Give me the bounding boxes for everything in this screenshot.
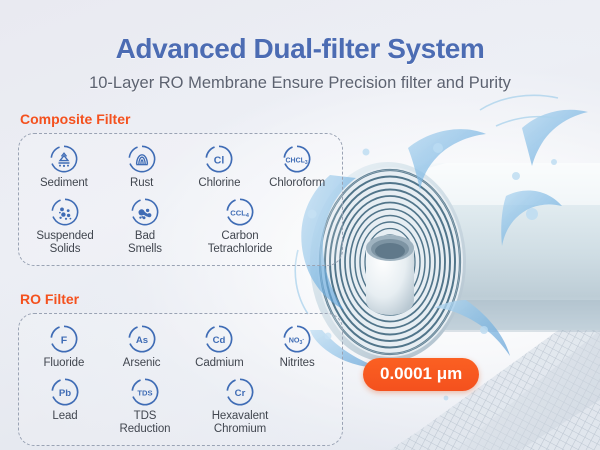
chloroform-icon: CHCL3 [282,144,312,174]
item-nitrites[interactable]: NO3- Nitrites [258,324,336,370]
svg-text:F: F [61,334,68,346]
svg-text:NO3-: NO3- [289,335,305,346]
item-label: Chloroform [269,177,325,190]
svg-text:CCL4: CCL4 [230,209,249,220]
svg-text:TDS: TDS [137,389,152,398]
micron-rating-badge: 0.0001 μm [363,358,479,391]
composite-filter-box: Sediment Rust [18,133,343,266]
item-label: TDS Reduction [120,410,171,436]
tds-reduction-icon: TDS [130,377,160,407]
section-ro-filter: RO Filter F Fluoride [18,291,343,446]
item-label: Carbon Tetrachloride [208,230,273,256]
chlorine-icon: Cl [204,144,234,174]
infographic-canvas: Advanced Dual-filter System 10-Layer RO … [0,0,600,450]
section-composite-filter: Composite Filter Sediment [18,111,343,266]
item-label: Hexavalent Chromium [212,410,269,436]
rust-icon [127,144,157,174]
item-label: Rust [130,177,153,190]
item-label: Suspended Solids [36,230,93,256]
ro-row-1: F Fluoride As Arsenic [25,324,336,370]
item-suspended-solids[interactable]: Suspended Solids [25,197,105,256]
item-rust[interactable]: Rust [103,144,181,190]
item-label: Fluoride [44,357,85,370]
item-fluoride[interactable]: F Fluoride [25,324,103,370]
fluoride-icon: F [49,324,79,354]
item-hexavalent-chromium[interactable]: Cr Hexavalent Chromium [185,377,295,436]
item-cadmium[interactable]: Cd Cadmium [181,324,259,370]
lead-icon: Pb [50,377,80,407]
bad-smells-icon [130,197,160,227]
svg-text:As: As [135,335,147,346]
item-bad-smells[interactable]: Bad Smells [105,197,185,256]
suspended-solids-icon [50,197,80,227]
arsenic-icon: As [127,324,157,354]
item-label: Nitrites [280,357,315,370]
item-chlorine[interactable]: Cl Chlorine [181,144,259,190]
section-title-ro: RO Filter [20,291,343,308]
item-label: Lead [52,410,77,423]
hexavalent-chromium-icon: Cr [225,377,255,407]
item-sediment[interactable]: Sediment [25,144,103,190]
svg-text:CHCL3: CHCL3 [286,157,308,166]
item-tds-reduction[interactable]: TDS TDS Reduction [105,377,185,436]
item-arsenic[interactable]: As Arsenic [103,324,181,370]
item-label: Bad Smells [128,230,162,256]
svg-text:Cd: Cd [213,335,226,346]
nitrites-icon: NO3- [282,324,312,354]
svg-text:Cr: Cr [235,388,246,399]
item-label: Sediment [40,177,88,190]
header: Advanced Dual-filter System 10-Layer RO … [0,32,600,94]
item-lead[interactable]: Pb Lead [25,377,105,436]
carbon-tetrachloride-icon: CCL4 [225,197,255,227]
svg-text:Cl: Cl [214,154,225,166]
ro-filter-box: F Fluoride As Arsenic [18,313,343,446]
section-title-composite: Composite Filter [20,111,343,128]
item-label: Cadmium [195,357,244,370]
item-label: Arsenic [123,357,161,370]
cadmium-icon: Cd [204,324,234,354]
item-chloroform[interactable]: CHCL3 Chloroform [258,144,336,190]
composite-row-1: Sediment Rust [25,144,336,190]
composite-row-2: Suspended Solids Bad Smells [25,197,336,256]
svg-text:Pb: Pb [59,388,71,399]
page-subtitle: 10-Layer RO Membrane Ensure Precision fi… [0,72,600,94]
item-carbon-tetrachloride[interactable]: CCL4 Carbon Tetrachloride [185,197,295,256]
page-title: Advanced Dual-filter System [0,32,600,66]
item-label: Chlorine [198,177,240,190]
sediment-icon [49,144,79,174]
ro-row-2: Pb Lead TDS TDS Reduction [25,377,336,436]
